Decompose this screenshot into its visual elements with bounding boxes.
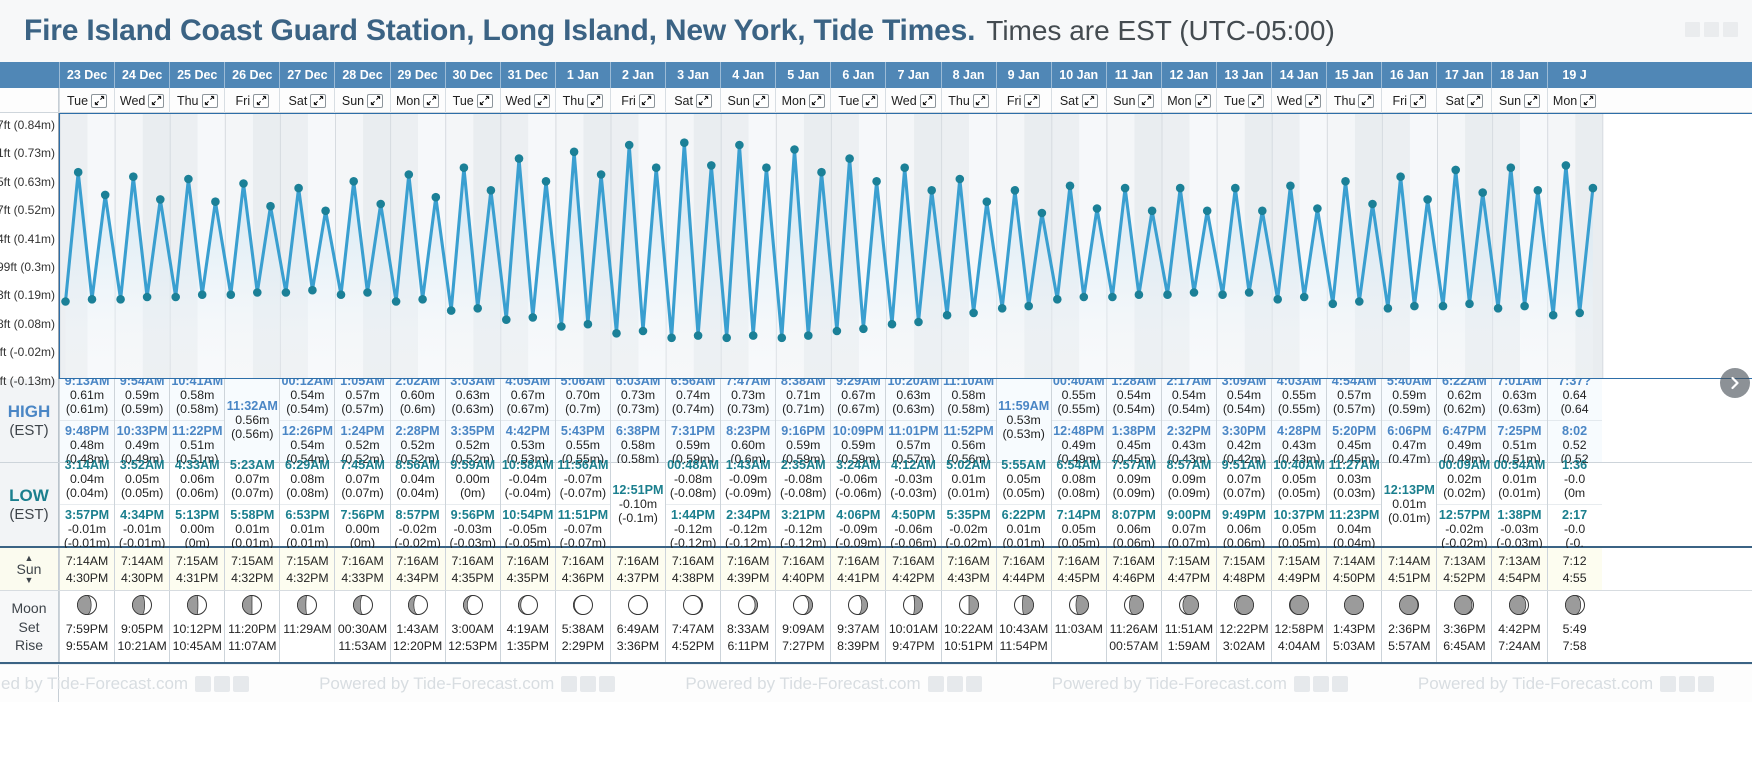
date-header-cell[interactable]: 8 Jan [941, 62, 996, 88]
tide-time: 8:23PM [721, 424, 775, 438]
date-header-cell[interactable]: 9 Jan [996, 62, 1051, 88]
moon-cell: 11:20PM11:07AM [224, 591, 279, 662]
date-header-cell[interactable]: 4 Jan [720, 62, 775, 88]
expand-icon[interactable] [1580, 94, 1596, 108]
low-tide-entry: 9:00PM0.07m(0.07m) [1162, 504, 1216, 554]
expand-icon[interactable] [423, 94, 439, 108]
tide-height-alt: (0.63m) [886, 402, 940, 416]
moonset-time: 5:38AM [562, 621, 604, 638]
tide-time: 2:28PM [391, 424, 445, 438]
expand-icon[interactable] [91, 94, 107, 108]
tide-time: 9:56PM [446, 508, 500, 522]
moonset-time: 10:22AM [944, 621, 993, 638]
tide-height: 0.54m [280, 388, 334, 402]
low-tide-point [998, 304, 1007, 313]
low-tide-column: 10:40AM0.05m(0.05m)10:37PM0.05m(0.05m) [1271, 463, 1326, 546]
low-tide-column: 8:56AM0.04m(0.04m)8:57PM-0.02m(-0.02m) [390, 463, 445, 546]
date-header-cell[interactable]: 29 Dec [390, 62, 445, 88]
tide-time: 10:54PM [501, 508, 555, 522]
date-header-cell[interactable]: 14 Jan [1271, 62, 1326, 88]
tide-time: 5:13PM [170, 508, 224, 522]
date-header-cell[interactable]: 15 Jan [1326, 62, 1381, 88]
low-tide-column: 7:45AM0.07m(0.07m)7:56PM0.00m(0m) [334, 463, 389, 546]
low-tide-point [1273, 295, 1282, 304]
tide-height-alt: (0.57m) [335, 402, 389, 416]
date-header-cell[interactable]: 17 Jan [1436, 62, 1491, 88]
date-header-cell[interactable]: 23 Dec [59, 62, 114, 88]
moon-phase [352, 594, 374, 619]
tide-height: 0.54m [1162, 388, 1216, 402]
moonrise-time: 9:55AM [66, 638, 108, 655]
tide-height-alt: (0.62m) [1437, 402, 1491, 416]
high-tide-point [211, 197, 220, 206]
tide-height: 0.54m [1217, 388, 1271, 402]
tide-height: 0.59m [776, 438, 830, 452]
expand-icon[interactable] [1410, 94, 1426, 108]
tide-height: 0.70m [556, 388, 610, 402]
low-tide-entry: 00:54AM0.01m(0.01m) [1492, 455, 1546, 504]
date-header-cell[interactable]: 11 Jan [1106, 62, 1161, 88]
low-tide-entry: 5:58PM0.01m(0.01m) [225, 504, 279, 554]
expand-icon[interactable] [1358, 94, 1374, 108]
tide-time: 10:33PM [115, 424, 169, 438]
date-header-cell[interactable]: 6 Jan [830, 62, 885, 88]
low-tide-point [584, 320, 593, 329]
moon-phase [76, 594, 98, 619]
high-tide-point [845, 154, 854, 163]
expand-icon[interactable] [1524, 94, 1540, 108]
tide-height-alt: (-0.06m) [831, 486, 885, 500]
tide-height-alt: (-0.08m) [776, 486, 830, 500]
weekday-cell: Thu [1326, 88, 1381, 113]
expand-icon[interactable] [477, 94, 493, 108]
high-tide-column: 2:02AM0.60m(0.6m)2:28PM0.52m(0.52m) [390, 379, 445, 462]
tide-height: 0.54m [1107, 388, 1161, 402]
tide-height-alt: (0.57m) [1327, 402, 1381, 416]
high-tide-point [707, 161, 716, 170]
moon-cell: 2:36PM5:57AM [1381, 591, 1436, 662]
low-tide-point [171, 293, 180, 302]
sun-cell: 7:15AM4:48PM [1216, 548, 1271, 590]
date-header-cell[interactable]: 25 Dec [169, 62, 224, 88]
low-tide-entry: 1:43AM-0.09m(-0.09m) [721, 455, 775, 504]
moonset-time: 6:49AM [617, 621, 659, 638]
tide-height: -0.07m [556, 472, 610, 486]
moon-phase-icon [352, 594, 374, 616]
low-tide-entry: 3:14AM0.04m(0.04m) [60, 455, 114, 504]
high-tide-point [817, 168, 826, 177]
weekday-spacer [0, 88, 59, 112]
high-tide-column: 9:29AM0.67m(0.67m)10:09PM0.59m(0.59m) [830, 379, 885, 462]
moon-cell: 1:43PM5:03AM [1326, 591, 1381, 662]
date-header-cell[interactable]: 30 Dec [445, 62, 500, 88]
tide-height-alt: (0.08m) [280, 486, 334, 500]
low-tide-point [694, 331, 703, 340]
y-axis-tick-label: 0.63ft (0.19m) [0, 288, 55, 302]
expand-icon[interactable] [1082, 94, 1098, 108]
low-tide-column: 12:13PM0.01m(0.01m) [1381, 463, 1436, 546]
expand-icon[interactable] [639, 94, 655, 108]
date-header-cell[interactable]: 10 Jan [1051, 62, 1106, 88]
sun-row: ▲ Sun ▼ 7:14AM4:30PM7:14AM4:30PM7:15AM4:… [0, 548, 1752, 590]
low-tide-entry: 7:45AM0.07m(0.07m) [335, 455, 389, 504]
date-header-cell[interactable]: 28 Dec [334, 62, 389, 88]
moonset-time: 8:33AM [727, 621, 769, 638]
date-header-cell[interactable]: 7 Jan [885, 62, 940, 88]
y-axis-tick-label: 0.28ft (0.08m) [0, 317, 55, 331]
moon-cell: 7:59PM9:55AM [59, 591, 114, 662]
moon-phase-icon [1178, 594, 1200, 616]
moon-phase [1068, 594, 1090, 619]
tide-height-alt: (0.01m) [1492, 486, 1546, 500]
high-tide-point [625, 141, 634, 150]
date-header-cell[interactable]: 5 Jan [775, 62, 830, 88]
tide-time: 1:38PM [1492, 508, 1546, 522]
moon-cell: 7:47AM4:52PM [665, 591, 720, 662]
tide-time: 4:50PM [886, 508, 940, 522]
tide-height: 0.73m [721, 388, 775, 402]
weekday-cell: Mon [390, 88, 445, 113]
expand-icon[interactable] [1195, 94, 1211, 108]
moon-phase-icon [131, 594, 153, 616]
sunset-time: 4:36PM [562, 571, 604, 585]
low-tide-point [1465, 300, 1474, 309]
tide-height: 0.64 [1548, 388, 1602, 402]
high-tide-column: 9:54AM0.59m(0.59m)10:33PM0.49m(0.49m) [114, 379, 169, 462]
tide-height-alt: (0.63m) [1492, 402, 1546, 416]
sunset-time: 4:37PM [617, 571, 659, 585]
high-tide-point [680, 138, 689, 147]
sun-cell: 7:14AM4:51PM [1381, 548, 1436, 590]
expand-icon[interactable] [1305, 94, 1321, 108]
expand-icon[interactable] [534, 94, 550, 108]
tide-height: -0.07m [556, 522, 610, 536]
tide-time: 7:57AM [1107, 458, 1161, 472]
moonrise-label-text: Rise [15, 637, 43, 653]
tide-time: 4:28PM [1272, 424, 1326, 438]
tide-height: 0.52 [1548, 438, 1602, 452]
tide-height: 0.49m [1052, 438, 1106, 452]
high-tide-column: 3:09AM0.54m(0.54m)3:30PM0.42m(0.42m) [1216, 379, 1271, 462]
moonset-time: 10:43AM [999, 621, 1048, 638]
tide-forecast-page: Fire Island Coast Guard Station, Long Is… [0, 0, 1752, 781]
low-tide-entry: 4:06PM-0.09m(-0.09m) [831, 504, 885, 554]
low-tide-point [363, 288, 372, 297]
tide-time: 5:43PM [556, 424, 610, 438]
tide-time: 6:38PM [611, 424, 665, 438]
tide-height: 0.56m [225, 413, 279, 427]
low-tide-point [1439, 302, 1448, 311]
low-tide-point [914, 318, 923, 327]
tide-height: -0.03m [446, 522, 500, 536]
sunrise-time: 7:14AM [66, 554, 108, 568]
sunset-time: 4:49PM [1278, 571, 1320, 585]
moon-phase [1343, 594, 1365, 619]
y-axis-tick-label: 2.41ft (0.73m) [0, 146, 55, 160]
expand-icon[interactable] [253, 94, 269, 108]
tide-time: 5:55AM [997, 458, 1051, 472]
weekday-cell: Tue [445, 88, 500, 113]
weekday-cell: Wed [500, 88, 555, 113]
moon-cell: 10:01AM9:47PM [885, 591, 940, 662]
moon-cell: 6:49AM3:36PM [610, 591, 665, 662]
date-header-cell[interactable]: 13 Jan [1216, 62, 1271, 88]
tide-height-alt: (0.07m) [225, 486, 279, 500]
tide-height: 0.01m [225, 522, 279, 536]
low-tide-point [1575, 309, 1584, 318]
moon-phase [572, 594, 594, 619]
sunset-time: 4:40PM [782, 571, 824, 585]
expand-icon[interactable] [1024, 94, 1040, 108]
moon-cell: 10:22AM10:51PM [941, 591, 996, 662]
date-header-cell[interactable]: 2 Jan [610, 62, 665, 88]
low-tide-entry: 11:27AM0.03m(0.03m) [1327, 455, 1381, 504]
expand-icon[interactable] [753, 94, 769, 108]
tide-time: 7:25PM [1492, 424, 1546, 438]
low-tide-point [1384, 304, 1393, 313]
date-header-cell[interactable]: 3 Jan [665, 62, 720, 88]
expand-icon[interactable] [920, 94, 936, 108]
moonset-time: 11:20PM [228, 621, 276, 638]
tide-height-alt: (-0.07m) [556, 486, 610, 500]
weekday-label: Wed [506, 94, 531, 108]
tide-time: 3:35PM [446, 424, 500, 438]
tide-height: 0.47m [1382, 438, 1436, 452]
high-tide-column: 7:37?0.64(0.648:020.52(0.52 [1547, 379, 1602, 462]
date-header-cell[interactable]: 26 Dec [224, 62, 279, 88]
tide-time: 10:09PM [831, 424, 885, 438]
scroll-right-button[interactable] [1720, 368, 1750, 398]
low-tide-column: 7:57AM0.09m(0.09m)8:07PM0.06m(0.06m) [1106, 463, 1161, 546]
high-tide-point [1423, 195, 1432, 204]
weekday-label: Fri [236, 94, 251, 108]
expand-icon[interactable] [1138, 94, 1154, 108]
weekday-label: Sun [342, 94, 364, 108]
date-header-cell[interactable]: 19 J [1547, 62, 1602, 88]
tide-time: 5:58PM [225, 508, 279, 522]
moon-label: Moon Set Rise [0, 591, 59, 662]
low-tide-entry: 6:53PM0.01m(0.01m) [280, 504, 334, 554]
tide-height: 0.04m [60, 472, 114, 486]
sunset-triangle-icon: ▼ [25, 576, 34, 584]
low-tide-entry: 10:58AM-0.04m(-0.04m) [501, 455, 555, 504]
moonrise-time: 8:39PM [837, 638, 879, 655]
tide-height: 0.53m [997, 413, 1051, 427]
moon-cell: 10:43AM11:54PM [996, 591, 1051, 662]
moonset-time: 7:59PM [66, 621, 108, 638]
date-header-cell[interactable]: 24 Dec [114, 62, 169, 88]
tide-height: 0.48m [60, 438, 114, 452]
expand-icon[interactable] [367, 94, 383, 108]
tide-height: 0.59m [666, 438, 720, 452]
high-tide-entry: 11:59AM0.53m(0.53m) [997, 396, 1051, 445]
footer-watermark-text: Powered by Tide-Forecast.com [685, 674, 920, 694]
tide-height: 0.07m [225, 472, 279, 486]
low-tide-timezone: (EST) [9, 506, 48, 523]
tide-height: 0.08m [1052, 472, 1106, 486]
tide-height: 0.63m [886, 388, 940, 402]
weekday-cell: Tue [59, 88, 114, 113]
moonrise-time: 5:03AM [1333, 638, 1375, 655]
tide-height-alt: (-0.03m) [886, 486, 940, 500]
date-header-cell[interactable]: 12 Jan [1161, 62, 1216, 88]
tide-height: -0.04m [501, 472, 555, 486]
sunset-time: 4:54PM [1498, 571, 1540, 585]
tide-time: 12:57PM [1437, 508, 1491, 522]
low-tide-point [859, 325, 868, 334]
low-tide-entry: 7:14PM0.05m(0.05m) [1052, 504, 1106, 554]
expand-icon[interactable] [310, 94, 326, 108]
moon-phase-icon [1013, 594, 1035, 616]
tide-time: 3:30PM [1217, 424, 1271, 438]
low-tide-column: 9:59AM0.00m(0m)9:56PM-0.03m(-0.03m) [445, 463, 500, 546]
footer-watermark: ed by Tide-Forecast.com [1, 674, 249, 694]
expand-icon[interactable] [1467, 94, 1483, 108]
sunrise-time: 7:16AM [672, 554, 714, 568]
weekday-label: Mon [1553, 94, 1577, 108]
expand-icon[interactable] [809, 94, 825, 108]
sun-label-text: Sun [17, 562, 42, 576]
moon-cell: 00:30AM11:53AM [334, 591, 389, 662]
chevron-right-icon [1728, 376, 1742, 390]
tide-height-alt: (0.67m) [831, 402, 885, 416]
sunrise-time: 7:15AM [176, 554, 218, 568]
tide-height: 0.55m [1052, 388, 1106, 402]
tide-height: -0.06m [831, 472, 885, 486]
low-tide-point [1494, 304, 1503, 313]
low-tide-point [1135, 290, 1144, 299]
tide-height: -0.03m [886, 472, 940, 486]
expand-icon[interactable] [148, 94, 164, 108]
tide-height: 0.05m [1272, 522, 1326, 536]
moon-cell: 12:58PM4:04AM [1271, 591, 1326, 662]
high-tide-column: 5:40AM0.59m(0.59m)6:06PM0.47m(0.47m) [1381, 379, 1436, 462]
tide-height: 0.58m [942, 388, 996, 402]
moonrise-time: 10:21AM [118, 638, 167, 655]
low-tide-column: 8:57AM0.09m(0.09m)9:00PM0.07m(0.07m) [1161, 463, 1216, 546]
high-tide-point [956, 175, 965, 184]
high-tide-point [790, 145, 799, 154]
sunset-time: 4:47PM [1168, 571, 1210, 585]
weekday-label: Thu [177, 94, 199, 108]
expand-icon[interactable] [587, 94, 603, 108]
expand-icon[interactable] [696, 94, 712, 108]
moon-phase-icon [517, 594, 539, 616]
tide-height: 0.45m [1107, 438, 1161, 452]
high-tide-column: 11:10AM0.58m(0.58m)11:52PM0.56m(0.56m) [941, 379, 996, 462]
sunrise-time: 7:12 [1563, 554, 1587, 568]
weekday-label: Thu [563, 94, 585, 108]
low-tide-point [227, 290, 236, 299]
tide-height: 0.57m [886, 438, 940, 452]
tide-time: 1:43AM [721, 458, 775, 472]
tide-height: 0.67m [501, 388, 555, 402]
moonrise-time: 2:29PM [562, 638, 604, 655]
tide-time: 6:47PM [1437, 424, 1491, 438]
tide-time: 6:06PM [1382, 424, 1436, 438]
moon-cell: 1:43AM12:20PM [390, 591, 445, 662]
expand-icon[interactable] [1248, 94, 1264, 108]
tide-time: 00:09AM [1437, 458, 1491, 472]
low-tide-entry: 3:52AM0.05m(0.05m) [115, 455, 169, 504]
tide-time: 3:57PM [60, 508, 114, 522]
moon-phase-icon [186, 594, 208, 616]
sun-cell: 7:16AM4:33PM [334, 548, 389, 590]
moon-phase [792, 594, 814, 619]
tide-time: 7:56PM [335, 508, 389, 522]
sunset-time: 4:42PM [892, 571, 934, 585]
tide-height: 0.52m [391, 438, 445, 452]
high-tide-point [1011, 186, 1020, 195]
high-tide-point [184, 175, 193, 184]
sunset-time: 4:48PM [1223, 571, 1265, 585]
date-header-cell[interactable]: 16 Jan [1381, 62, 1436, 88]
moon-phase-icon [902, 594, 924, 616]
tide-height-alt: (0.73m) [611, 402, 665, 416]
high-tide-column: 4:05AM0.67m(0.67m)4:42PM0.53m(0.53m) [500, 379, 555, 462]
low-tide-column: 3:24AM-0.06m(-0.06m)4:06PM-0.09m(-0.09m) [830, 463, 885, 546]
expand-icon[interactable] [973, 94, 989, 108]
tide-time: 7:31PM [666, 424, 720, 438]
tide-time: 5:02AM [942, 458, 996, 472]
moon-cell: 11:51AM1:59AM [1161, 591, 1216, 662]
low-tide-entry: 4:50PM-0.06m(-0.06m) [886, 504, 940, 554]
sunset-time: 4:51PM [1388, 571, 1430, 585]
tide-height-alt: (0.09m) [1162, 486, 1216, 500]
tide-curve-chart[interactable] [59, 113, 1752, 379]
sunset-time: 4:38PM [672, 571, 714, 585]
high-tide-column: 10:41AM0.58m(0.58m)11:22PM0.51m(0.51m) [169, 379, 224, 462]
moon-phase [407, 594, 429, 619]
moon-cell: 5:38AM2:29PM [555, 591, 610, 662]
weekday-row: TueWedThuFriSatSunMonTueWedThuFriSatSunM… [0, 88, 1752, 113]
weekday-cell: Wed [1271, 88, 1326, 113]
expand-icon[interactable] [862, 94, 878, 108]
tide-time: 5:20PM [1327, 424, 1381, 438]
moonset-label-text: Set [18, 619, 39, 635]
low-tide-entry: 3:57PM-0.01m(-0.01m) [60, 504, 114, 554]
low-tide-point [61, 297, 70, 306]
tide-height-alt: (-0.1m) [611, 511, 665, 525]
date-header-cell[interactable]: 18 Jan [1491, 62, 1546, 88]
high-tide-point [652, 163, 661, 172]
tide-time: 1:44PM [666, 508, 720, 522]
date-header-cell[interactable]: 31 Dec [500, 62, 555, 88]
moonrise-time: 00:57AM [1109, 638, 1158, 655]
sunset-time: 4:33PM [341, 571, 383, 585]
sunset-time: 4:35PM [452, 571, 494, 585]
tide-time: 8:02 [1548, 424, 1602, 438]
date-header-cell[interactable]: 27 Dec [279, 62, 334, 88]
tide-time: 00:48AM [666, 458, 720, 472]
sunset-time: 4:43PM [947, 571, 989, 585]
expand-icon[interactable] [202, 94, 218, 108]
date-header-cell[interactable]: 1 Jan [555, 62, 610, 88]
moonset-time: 11:03AM [1055, 621, 1103, 638]
low-tide-column: 4:33AM0.06m(0.06m)5:13PM0.00m(0m) [169, 463, 224, 546]
low-tide-point [1300, 293, 1309, 302]
tide-time: 8:57PM [391, 508, 445, 522]
sunrise-time: 7:15AM [1278, 554, 1320, 568]
moon-phase-icon [792, 594, 814, 616]
tide-height-alt: (0.55m) [1052, 402, 1106, 416]
weekday-label: Sat [674, 94, 693, 108]
tide-time: 10:40AM [1272, 458, 1326, 472]
tide-height-alt: (-0.08m) [666, 486, 720, 500]
moon-phase [1398, 594, 1420, 619]
moon-phase-icon [958, 594, 980, 616]
sun-cell: 7:14AM4:30PM [59, 548, 114, 590]
